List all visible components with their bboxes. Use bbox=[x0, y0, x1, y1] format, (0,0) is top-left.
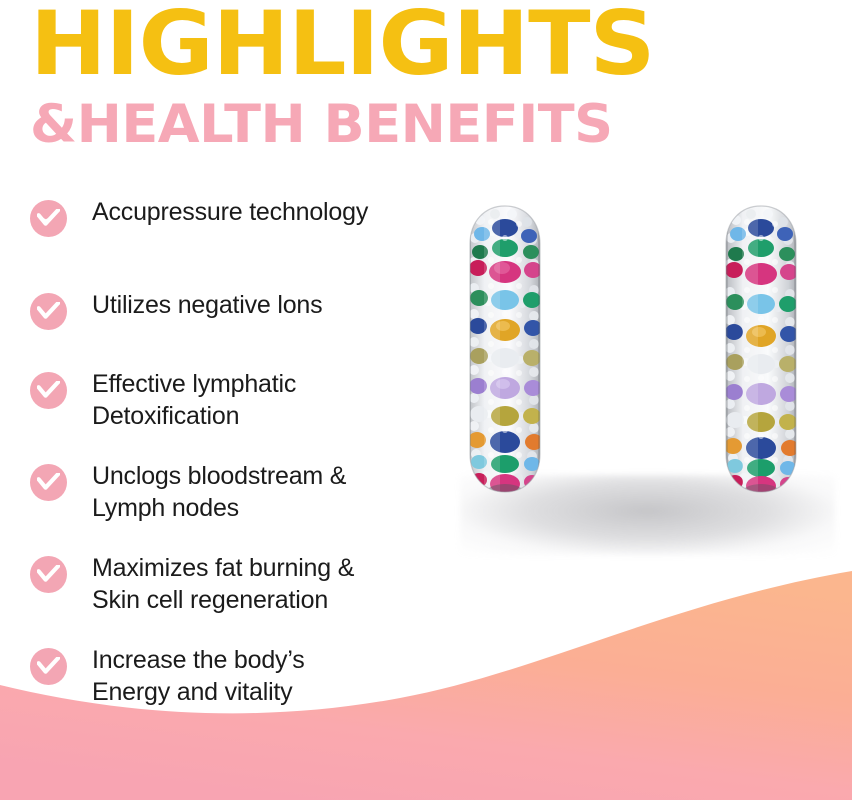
page-title: HIGHLIGHTS bbox=[30, 0, 696, 86]
product-image bbox=[440, 180, 852, 560]
check-circle-icon bbox=[30, 293, 67, 330]
list-item: Increase the body’s Energy and vitality bbox=[30, 644, 430, 708]
list-item: Maximizes fat burning & Skin cell regene… bbox=[30, 552, 430, 616]
earring-left bbox=[462, 202, 548, 502]
check-circle-icon bbox=[30, 372, 67, 409]
list-item: Effective lymphatic Detoxification bbox=[30, 368, 430, 432]
heading-block: HIGHLIGHTS &HEALTH BENEFITS bbox=[30, 0, 670, 151]
page-subtitle: &HEALTH BENEFITS bbox=[30, 98, 683, 151]
earring-right bbox=[718, 202, 804, 502]
list-item: Unclogs bloodstream & Lymph nodes bbox=[30, 460, 430, 524]
list-item-label: Utilizes negative lons bbox=[92, 289, 322, 322]
list-item-label: Accupressure technology bbox=[92, 196, 368, 229]
list-item: Accupressure technology bbox=[30, 196, 430, 237]
check-circle-icon bbox=[30, 556, 67, 593]
list-item-label: Unclogs bloodstream & Lymph nodes bbox=[92, 460, 346, 524]
list-item-label: Maximizes fat burning & Skin cell regene… bbox=[92, 552, 354, 616]
list-item-label: Effective lymphatic Detoxification bbox=[92, 368, 296, 432]
poster-canvas: HIGHLIGHTS &HEALTH BENEFITS Accupressure… bbox=[0, 0, 852, 800]
check-circle-icon bbox=[30, 464, 67, 501]
check-circle-icon bbox=[30, 200, 67, 237]
list-item: Utilizes negative lons bbox=[30, 289, 430, 330]
check-circle-icon bbox=[30, 648, 67, 685]
benefits-list: Accupressure technology Utilizes negativ… bbox=[30, 196, 430, 708]
list-item-label: Increase the body’s Energy and vitality bbox=[92, 644, 305, 708]
